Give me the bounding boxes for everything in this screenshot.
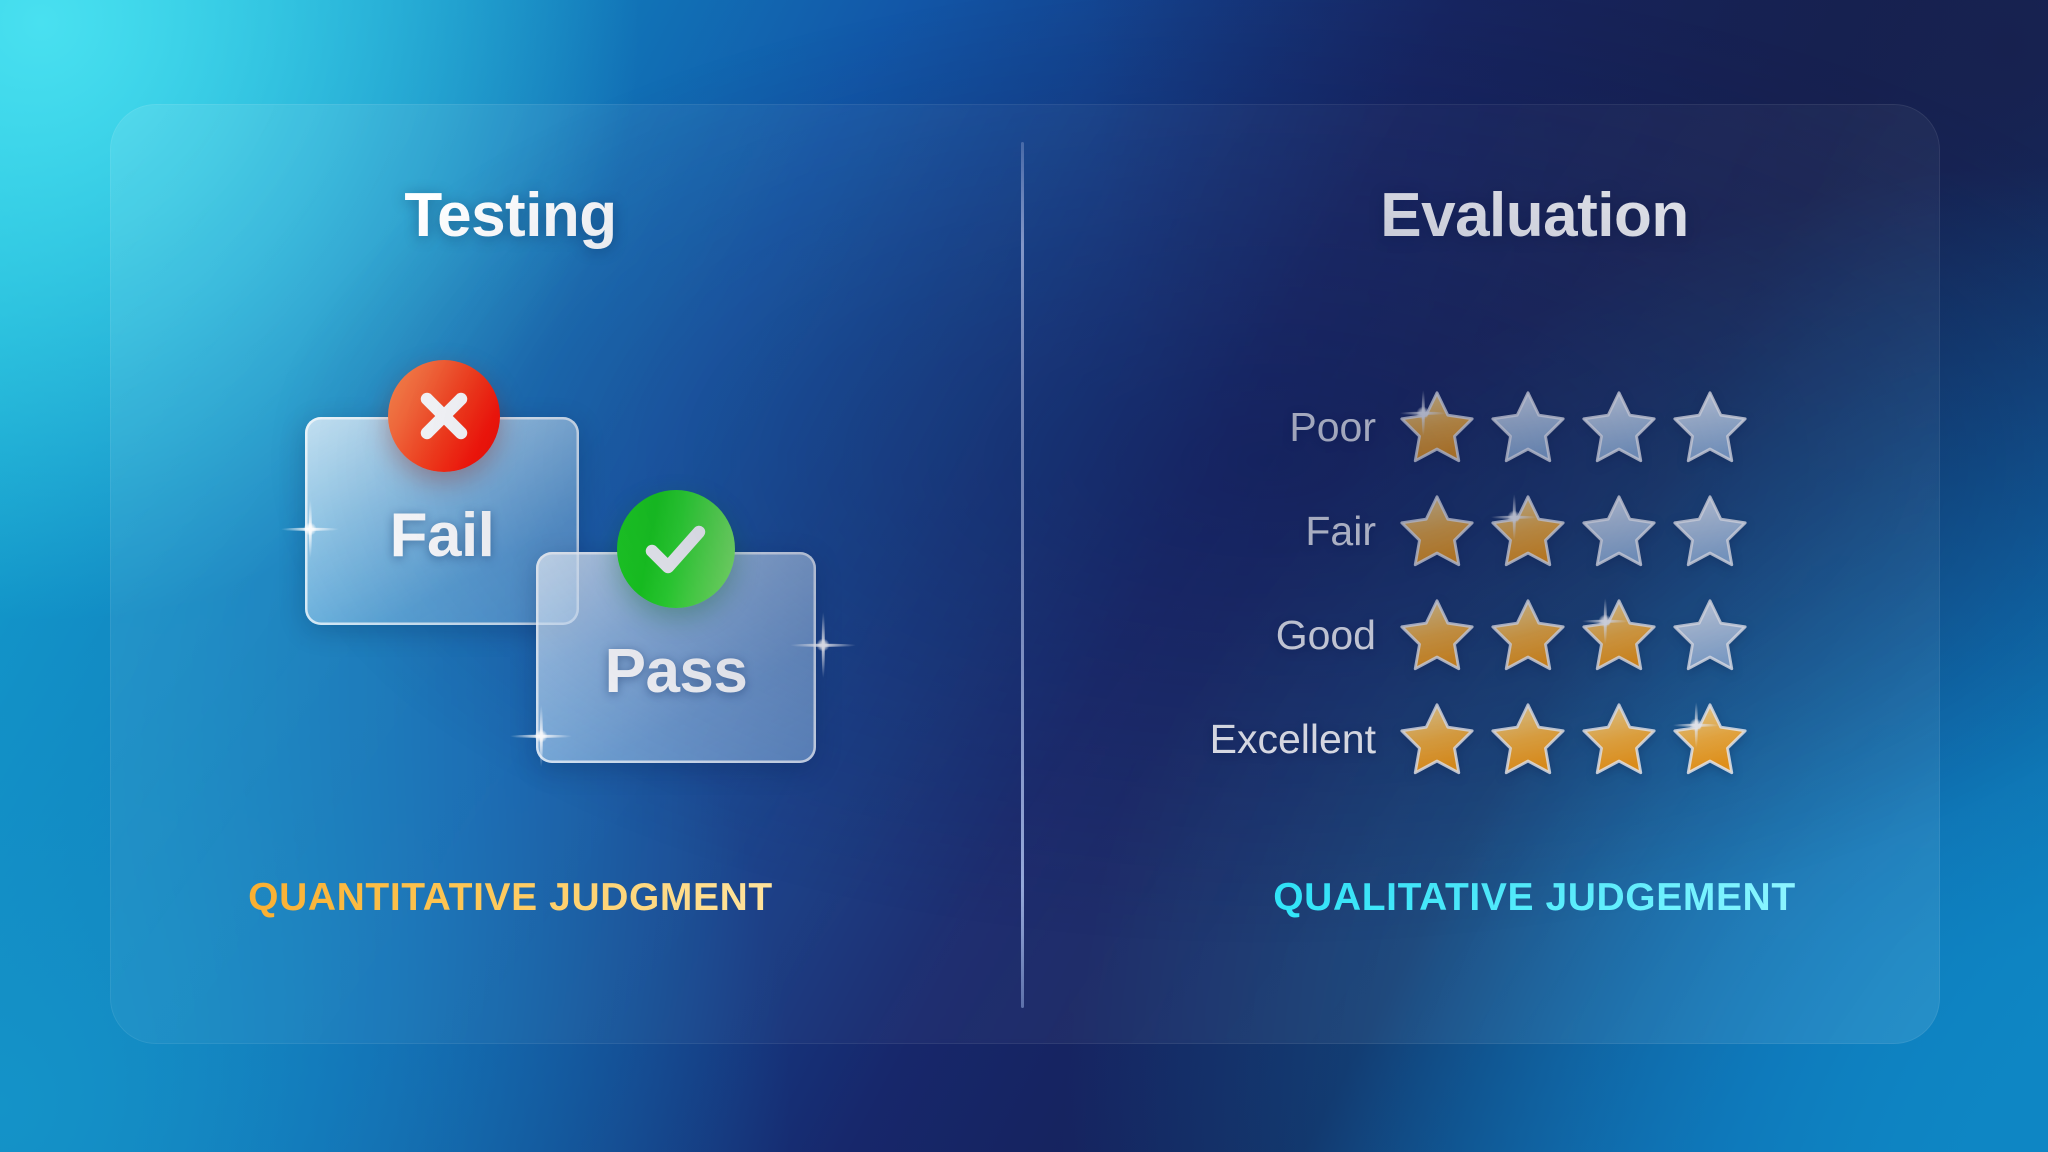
rating-row[interactable]: Poor — [1180, 375, 1840, 479]
rating-row[interactable]: Excellent — [1180, 687, 1840, 791]
rating-label: Poor — [1180, 404, 1398, 451]
star-rating[interactable] — [1398, 700, 1749, 778]
rating-row[interactable]: Good — [1180, 583, 1840, 687]
rating-row[interactable]: Fair — [1180, 479, 1840, 583]
rating-list: Poor Fair Good Excellent — [1180, 375, 1840, 791]
star-filled-icon[interactable] — [1671, 700, 1749, 778]
star-empty-icon[interactable] — [1671, 388, 1749, 466]
caption-quantitative: QUANTITATIVE JUDGMENT — [0, 876, 1021, 920]
star-filled-icon[interactable] — [1398, 700, 1476, 778]
rating-label: Fair — [1180, 508, 1398, 555]
infographic-canvas: Testing Evaluation Fail Pass Poor Fair — [0, 0, 2048, 1152]
star-empty-icon[interactable] — [1489, 388, 1567, 466]
check-icon — [617, 490, 735, 608]
star-empty-icon[interactable] — [1671, 492, 1749, 570]
fail-card-label: Fail — [390, 500, 495, 571]
page-title-testing: Testing — [0, 180, 1021, 251]
star-filled-icon[interactable] — [1398, 492, 1476, 570]
star-empty-icon[interactable] — [1671, 596, 1749, 674]
star-rating[interactable] — [1398, 492, 1749, 570]
star-filled-icon[interactable] — [1398, 596, 1476, 674]
star-filled-icon[interactable] — [1489, 700, 1567, 778]
caption-qualitative: QUALITATIVE JUDGEMENT — [1021, 876, 2048, 920]
pass-card-label: Pass — [605, 636, 748, 707]
star-empty-icon[interactable] — [1580, 492, 1658, 570]
star-filled-icon[interactable] — [1580, 700, 1658, 778]
rating-label: Excellent — [1180, 716, 1398, 763]
star-filled-icon[interactable] — [1398, 388, 1476, 466]
star-filled-icon[interactable] — [1580, 596, 1658, 674]
star-filled-icon[interactable] — [1489, 596, 1567, 674]
star-filled-icon[interactable] — [1489, 492, 1567, 570]
cross-icon — [388, 360, 500, 472]
star-rating[interactable] — [1398, 388, 1749, 466]
star-rating[interactable] — [1398, 596, 1749, 674]
rating-label: Good — [1180, 612, 1398, 659]
star-empty-icon[interactable] — [1580, 388, 1658, 466]
page-title-evaluation: Evaluation — [1021, 180, 2048, 251]
